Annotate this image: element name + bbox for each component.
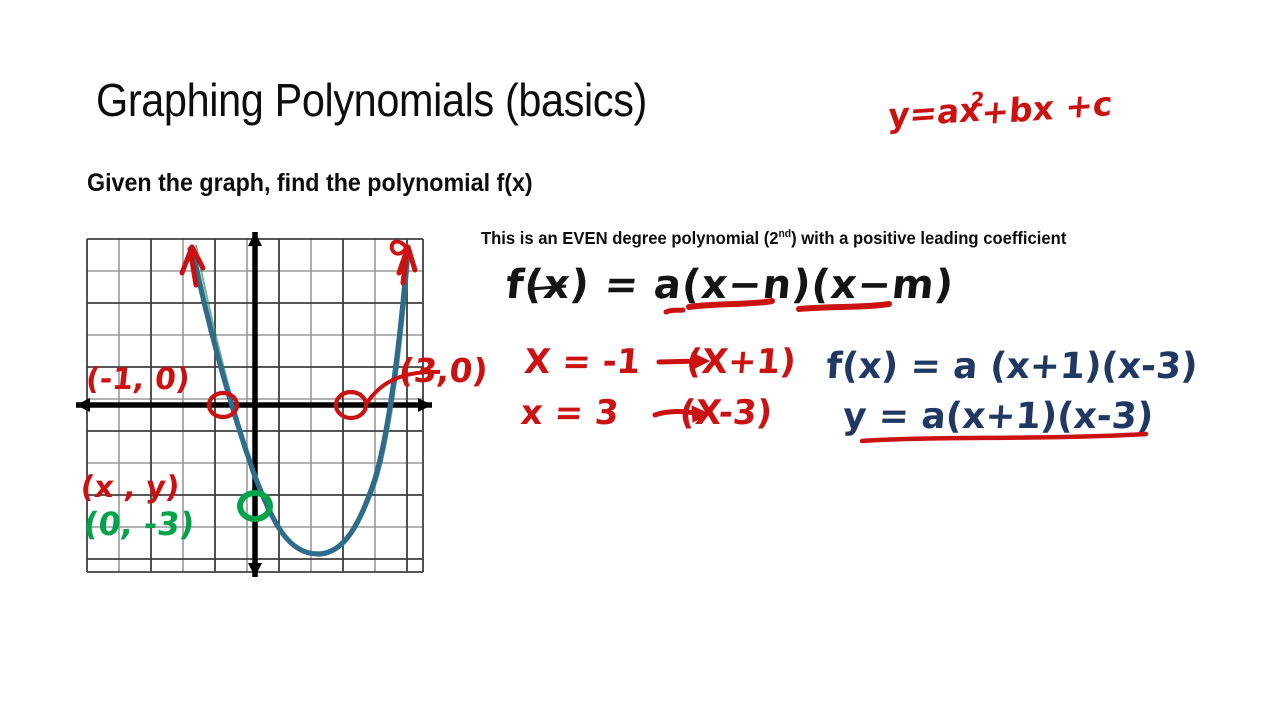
even-degree-note: This is an EVEN degree polynomial (2nd) … (481, 226, 1066, 250)
root-work-line-1-left: X = -1 (523, 342, 643, 382)
underline-factor-m (799, 304, 889, 309)
coordinate-graph (70, 225, 440, 590)
even-degree-note-part1: This is an EVEN degree polynomial (2 (481, 228, 778, 248)
page-title: Graphing Polynomials (basics) (96, 72, 647, 128)
graph-axes (76, 232, 432, 577)
formula-standard-form-tail: +bx +c (980, 84, 1114, 132)
curve-end-arrows (182, 247, 415, 285)
formula-standard-form-text: y=ax (887, 90, 982, 136)
f-crossbar (531, 286, 566, 289)
answer-block: f(x) = a (x+1)(x-3) y = a(x+1)(x-3) (825, 346, 1199, 441)
root-work-line-2: x = 3 (X-3) (519, 393, 774, 433)
answer-line-1: f(x) = a (x+1)(x-3) (825, 346, 1199, 387)
arrow-2-head (692, 406, 709, 422)
answer-underline (862, 434, 1146, 441)
underline-factor-n (689, 301, 772, 307)
even-degree-note-part2: ) with a positive leading coefficient (791, 228, 1066, 248)
arrow-1-shaft (659, 361, 700, 362)
answer-line-2: y = a(x+1)(x-3) (841, 396, 1154, 437)
arrow-2-shaft (655, 411, 700, 415)
formula-standard-form-exponent: 2 (970, 87, 986, 112)
root-work-line-2-left: x = 3 (519, 393, 620, 433)
arrow-1-head (692, 353, 709, 369)
underline-leading-coefficient (666, 310, 683, 312)
slide-subtitle: Given the graph, find the polynomial f(x… (87, 167, 533, 199)
slide-canvas: Graphing Polynomials (basics) Given the … (0, 0, 1280, 720)
formula-factored-general-text: f(x) = a(x−n)(x−m) (504, 262, 957, 308)
curve-right-flourish (392, 241, 406, 253)
even-degree-note-superscript: nd (778, 228, 791, 240)
root-work-line-1: X = -1 (X+1) (523, 342, 798, 382)
formula-factored-general: f(x) = a(x−n)(x−m) (504, 262, 957, 312)
root-work-line-1-right: (X+1) (685, 342, 798, 382)
formula-standard-form: y=ax 2 +bx +c (887, 84, 1114, 135)
root-work-line-2-right: (X-3) (678, 393, 774, 433)
